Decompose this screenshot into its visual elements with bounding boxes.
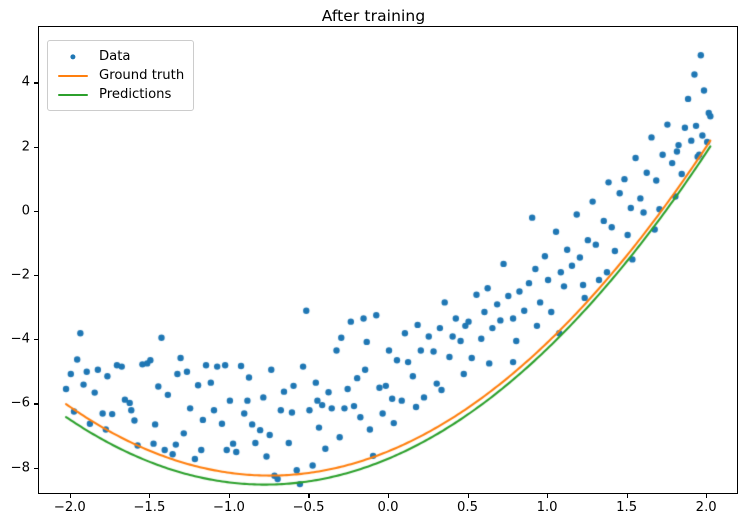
x-tick-mark — [308, 494, 309, 498]
x-tick-label: −2.0 — [54, 500, 86, 515]
y-tick-mark — [34, 147, 38, 148]
chart-title: After training — [0, 7, 747, 25]
x-tick-label: 0.5 — [457, 500, 478, 515]
x-tick-mark — [229, 494, 230, 498]
chart-legend: DataGround truthPredictions — [47, 40, 194, 111]
x-tick-label: 2.0 — [696, 500, 717, 515]
y-tick-mark — [34, 82, 38, 83]
y-tick-mark — [34, 468, 38, 469]
x-tick-mark — [70, 494, 71, 498]
x-tick-label: −0.5 — [292, 500, 324, 515]
y-tick-mark — [34, 403, 38, 404]
y-tick-mark — [34, 275, 38, 276]
legend-entry-label: Ground truth — [99, 69, 184, 82]
y-tick-label: 4 — [22, 75, 30, 90]
legend-marker-dot-icon — [56, 50, 90, 64]
x-tick-label: −1.0 — [213, 500, 245, 515]
x-tick-label: 1.5 — [616, 500, 637, 515]
x-tick-mark — [706, 494, 707, 498]
x-tick-mark — [468, 494, 469, 498]
legend-entry-label: Predictions — [99, 88, 171, 101]
x-tick-label: 0.0 — [378, 500, 399, 515]
y-tick-mark — [34, 211, 38, 212]
y-tick-label: 2 — [22, 139, 30, 154]
y-tick-label: −8 — [11, 460, 30, 475]
x-tick-mark — [627, 494, 628, 498]
y-tick-label: −2 — [11, 268, 30, 283]
legend-marker-line-icon — [56, 69, 90, 83]
y-tick-mark — [34, 339, 38, 340]
legend-entry: Ground truth — [56, 66, 184, 85]
legend-entry: Predictions — [56, 85, 184, 104]
y-tick-label: 0 — [22, 203, 30, 218]
x-tick-mark — [547, 494, 548, 498]
legend-marker-line-icon — [56, 88, 90, 102]
y-tick-label: −4 — [11, 332, 30, 347]
x-tick-label: 1.0 — [537, 500, 558, 515]
x-tick-label: −1.5 — [133, 500, 165, 515]
x-tick-mark — [388, 494, 389, 498]
legend-entry-label: Data — [99, 50, 131, 63]
x-tick-mark — [149, 494, 150, 498]
legend-entry: Data — [56, 47, 184, 66]
figure-canvas: After training −2.0−1.5−1.0−0.50.00.51.0… — [0, 0, 747, 528]
y-tick-label: −6 — [11, 396, 30, 411]
